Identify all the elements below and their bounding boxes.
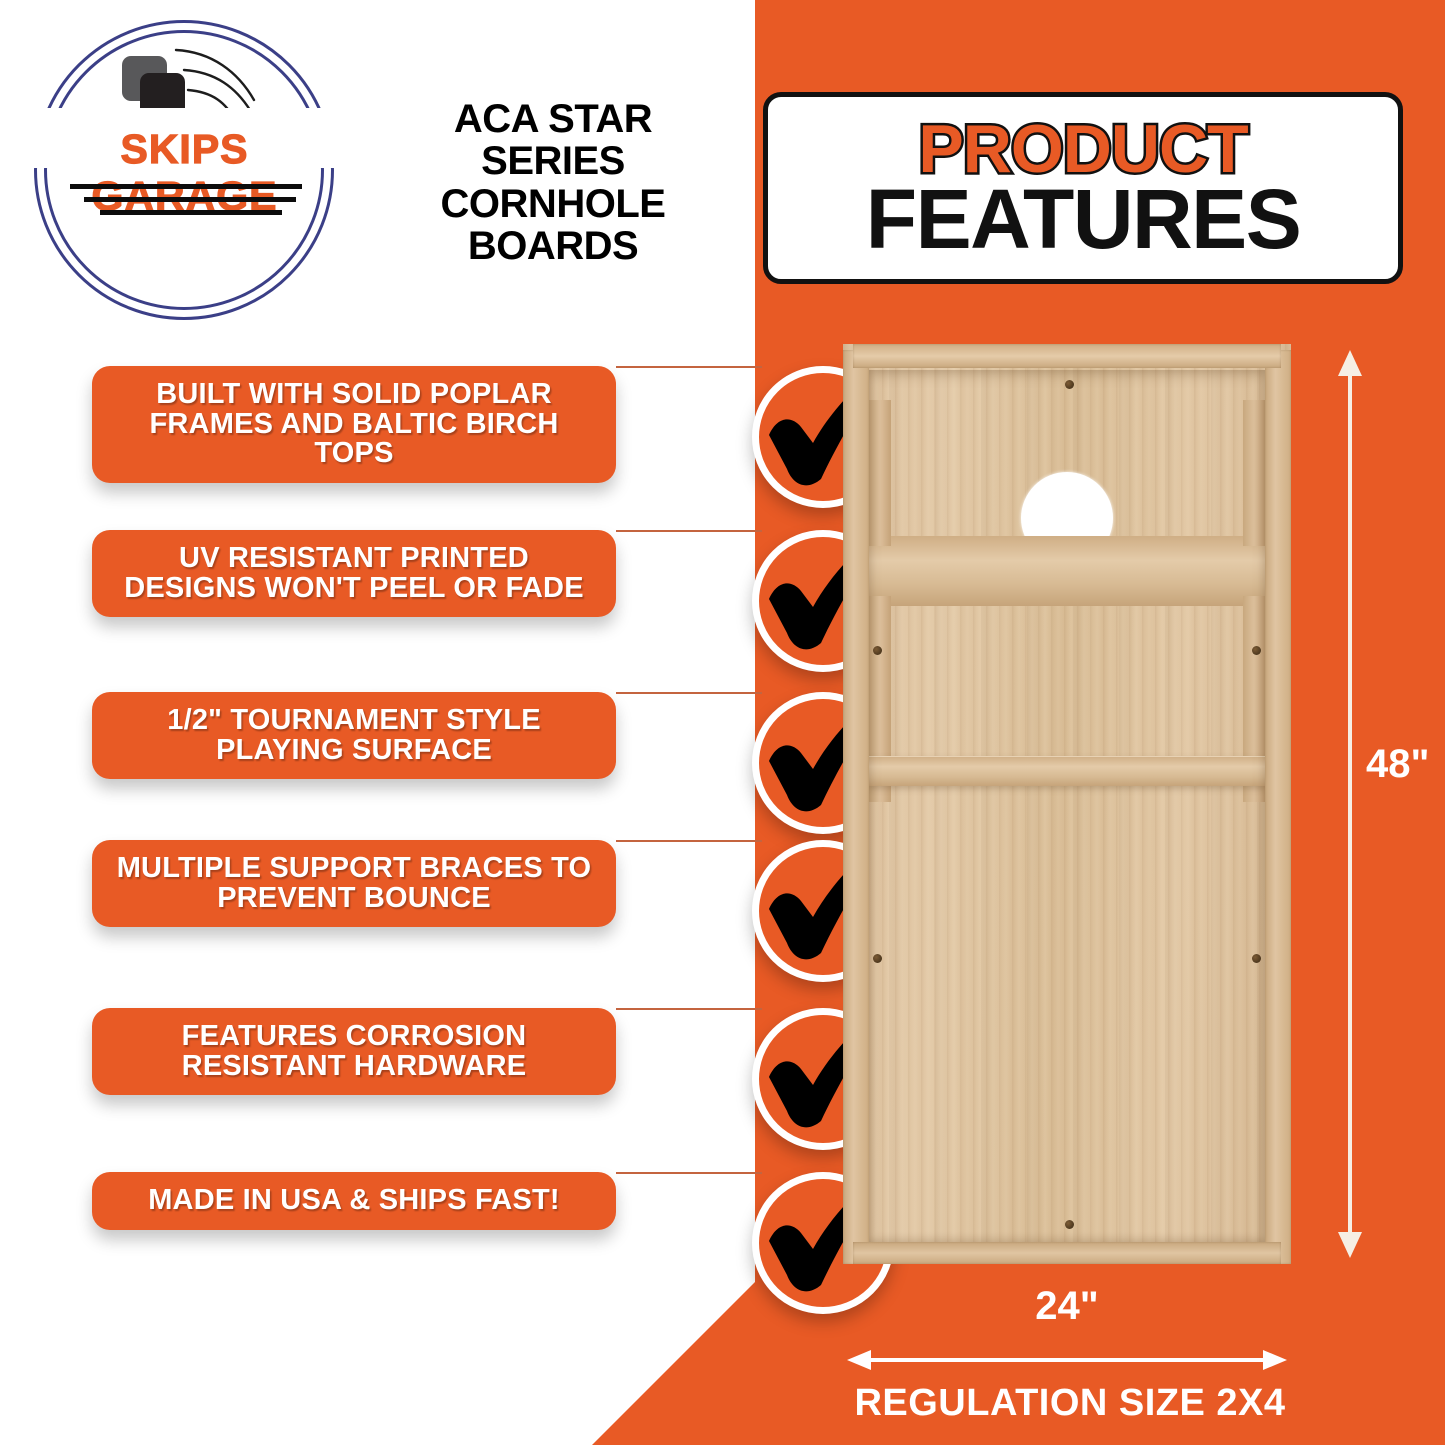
- feature-connector-line: [616, 1008, 762, 1010]
- feature-connector-line: [616, 692, 762, 694]
- feature-pill[interactable]: BUILT WITH SOLID POPLAR FRAMES AND BALTI…: [92, 366, 616, 483]
- feature-label: 1/2" TOURNAMENT STYLE PLAYING SURFACE: [110, 706, 598, 765]
- board-screw: [1252, 646, 1261, 655]
- board-frame-right: [1265, 350, 1291, 1264]
- feature-connector-line: [616, 530, 762, 532]
- product-features-banner: PRODUCT FEATURES: [763, 92, 1403, 284]
- feature-list: BUILT WITH SOLID POPLAR FRAMES AND BALTI…: [0, 0, 830, 1445]
- board-screw: [873, 954, 882, 963]
- feature-pill[interactable]: MULTIPLE SUPPORT BRACES TO PREVENT BOUNC…: [92, 840, 616, 927]
- feature-connector-line: [616, 840, 762, 842]
- board-screw: [1252, 954, 1261, 963]
- width-dimension-label: 24": [843, 1284, 1291, 1329]
- feature-pill[interactable]: UV RESISTANT PRINTED DESIGNS WON'T PEEL …: [92, 530, 616, 617]
- board-screw: [873, 646, 882, 655]
- infographic-root: SKIPS GARAGE ACA STAR SERIES CORNHOLE BO…: [0, 0, 1445, 1445]
- feature-label: UV RESISTANT PRINTED DESIGNS WON'T PEEL …: [110, 544, 598, 603]
- feature-pill[interactable]: MADE IN USA & SHIPS FAST!: [92, 1172, 616, 1230]
- regulation-size-note: REGULATION SIZE 2X4: [820, 1382, 1320, 1425]
- cornhole-board-image: [843, 344, 1291, 1264]
- feature-label: MADE IN USA & SHIPS FAST!: [148, 1186, 560, 1216]
- height-dimension-label: 48": [1366, 742, 1429, 787]
- board-screw: [1065, 1220, 1074, 1229]
- feature-label: FEATURES CORROSION RESISTANT HARDWARE: [110, 1022, 598, 1081]
- feature-label: BUILT WITH SOLID POPLAR FRAMES AND BALTI…: [110, 380, 598, 469]
- board-frame-bottom: [853, 1242, 1281, 1264]
- board-stile-left-upper: [869, 400, 891, 546]
- feature-connector-line: [616, 1172, 762, 1174]
- width-dimension-arrow: [845, 1348, 1289, 1372]
- feature-connector-line: [616, 366, 762, 368]
- banner-title-features: FEATURES: [866, 178, 1300, 260]
- height-dimension-arrow: [1337, 348, 1363, 1260]
- feature-pill[interactable]: 1/2" TOURNAMENT STYLE PLAYING SURFACE: [92, 692, 616, 779]
- board-screw: [1065, 380, 1074, 389]
- board-lower-brace: [869, 756, 1265, 786]
- board-frame-left: [843, 350, 869, 1264]
- board-stile-right-upper: [1243, 400, 1265, 546]
- feature-pill[interactable]: FEATURES CORROSION RESISTANT HARDWARE: [92, 1008, 616, 1095]
- board-frame-top: [853, 344, 1281, 368]
- board-mid-brace: [869, 536, 1265, 606]
- feature-label: MULTIPLE SUPPORT BRACES TO PREVENT BOUNC…: [110, 854, 598, 913]
